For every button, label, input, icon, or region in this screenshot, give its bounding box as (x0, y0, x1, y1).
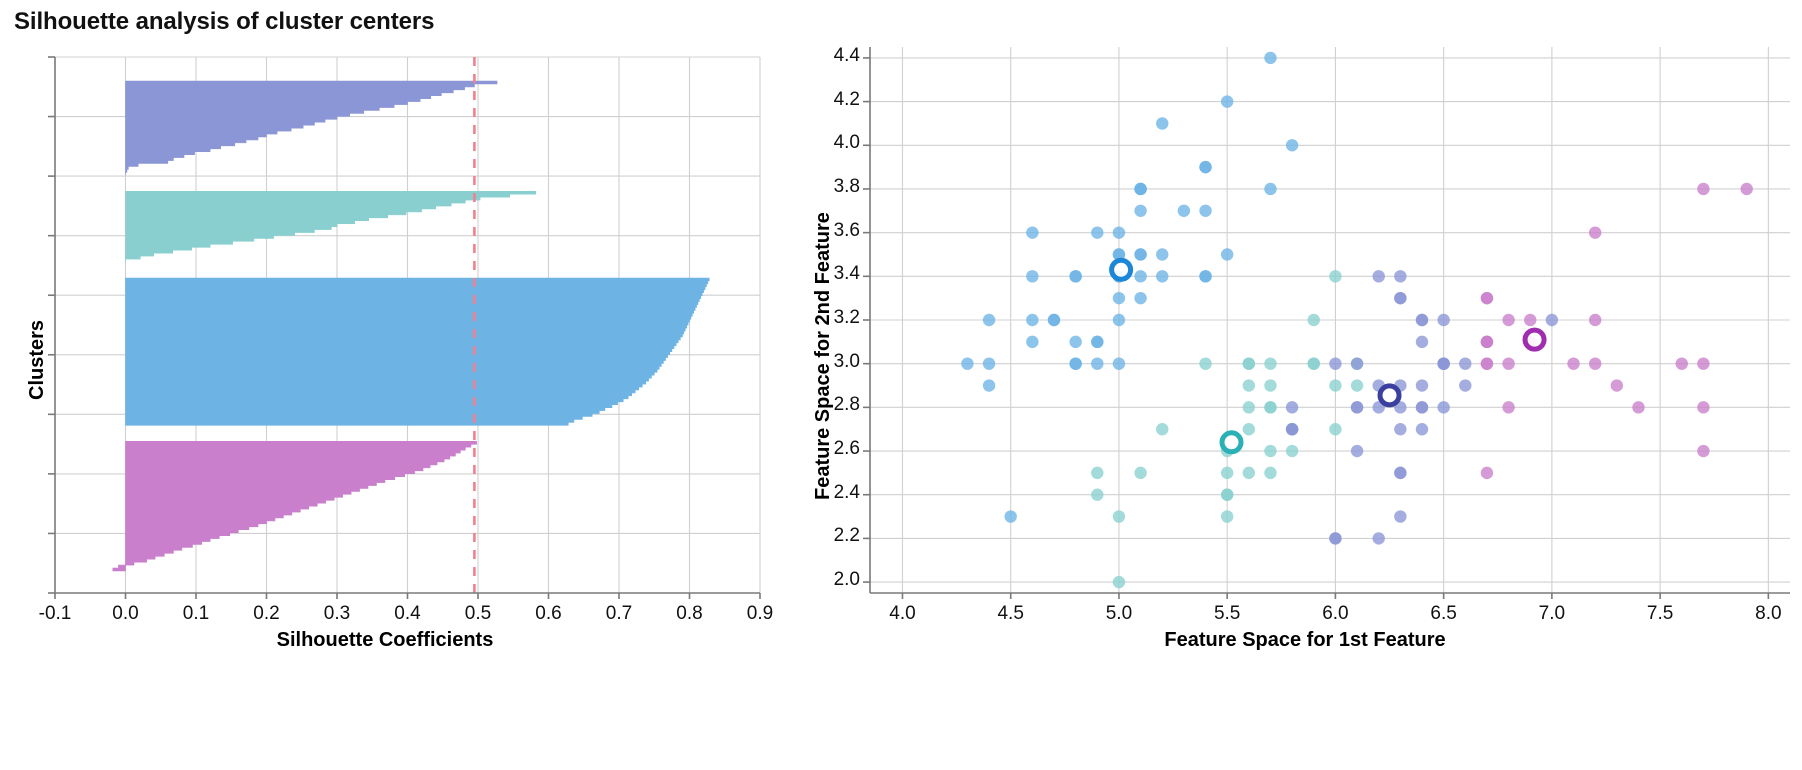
scatter-point (1026, 270, 1038, 282)
scatter-point (1351, 379, 1363, 391)
silhouette-panel: Silhouette analysis of cluster centers C… (0, 0, 790, 770)
scatter-point (1632, 401, 1644, 413)
scatter-point (1156, 270, 1168, 282)
scatter-point (983, 379, 995, 391)
scatter-ytick-1: 2.2 (812, 525, 860, 547)
scatter-point (1308, 357, 1320, 369)
scatter-point (1546, 314, 1558, 326)
silhouette-cluster-0 (126, 81, 498, 175)
silhouette-xtick-3: 0.2 (241, 603, 293, 625)
scatter-point (1026, 226, 1038, 238)
scatter-point (1286, 445, 1298, 457)
scatter-point (1026, 336, 1038, 348)
scatter-point (1416, 379, 1428, 391)
scatter-point (1243, 467, 1255, 479)
scatter-point (1329, 532, 1341, 544)
scatter-xtick-5: 6.5 (1418, 603, 1470, 625)
scatter-point (1697, 357, 1709, 369)
page-title: Silhouette analysis of cluster centers (14, 8, 434, 36)
scatter-point (1091, 336, 1103, 348)
scatter-ytick-10: 4.0 (812, 132, 860, 154)
scatter-point (1697, 183, 1709, 195)
scatter-point (1481, 336, 1493, 348)
scatter-point (1199, 205, 1211, 217)
scatter-point (1524, 314, 1536, 326)
scatter-point (1329, 423, 1341, 435)
silhouette-xtick-6: 0.5 (452, 603, 504, 625)
scatter-point (1502, 314, 1514, 326)
scatter-point (1437, 357, 1449, 369)
scatter-point (1243, 423, 1255, 435)
figure-root: Silhouette analysis of cluster centers C… (0, 0, 1802, 770)
scatter-point (1134, 467, 1146, 479)
scatter-point (1243, 357, 1255, 369)
scatter-point (1676, 357, 1688, 369)
scatter-point (1178, 205, 1190, 217)
scatter-point (1394, 270, 1406, 282)
scatter-point (1264, 379, 1276, 391)
scatter-point (1134, 183, 1146, 195)
scatter-point (1134, 248, 1146, 260)
scatter-point (1329, 357, 1341, 369)
scatter-point (1437, 314, 1449, 326)
scatter-point (1113, 576, 1125, 588)
scatter-point (1156, 423, 1168, 435)
scatter-point (1697, 445, 1709, 457)
scatter-point (1243, 379, 1255, 391)
cluster-center-3 (1525, 330, 1544, 349)
scatter-point (1589, 226, 1601, 238)
silhouette-xtick-7: 0.6 (523, 603, 575, 625)
scatter-point (1416, 336, 1428, 348)
scatter-point (1459, 357, 1471, 369)
scatter-point (1221, 95, 1233, 107)
scatter-point (1156, 117, 1168, 129)
silhouette-xtick-8: 0.7 (593, 603, 645, 625)
silhouette-xtick-1: 0.0 (100, 603, 152, 625)
scatter-point (1221, 248, 1233, 260)
silhouette-svg (0, 0, 790, 770)
scatter-point (1264, 52, 1276, 64)
scatter-point (1394, 467, 1406, 479)
scatter-point (1567, 357, 1579, 369)
cluster-center-2 (1112, 260, 1131, 279)
scatter-point (983, 357, 995, 369)
scatter-point (1286, 401, 1298, 413)
scatter-point (1134, 292, 1146, 304)
scatter-ytick-3: 2.6 (812, 438, 860, 460)
scatter-point (1069, 357, 1081, 369)
scatter-ytick-4: 2.8 (812, 394, 860, 416)
scatter-point (1069, 270, 1081, 282)
scatter-point (1264, 357, 1276, 369)
scatter-point (1091, 467, 1103, 479)
scatter-point (1134, 270, 1146, 282)
scatter-xtick-6: 7.0 (1526, 603, 1578, 625)
scatter-point (1005, 510, 1017, 522)
scatter-ytick-2: 2.4 (812, 482, 860, 504)
scatter-point (1502, 357, 1514, 369)
scatter-ytick-11: 4.2 (812, 89, 860, 111)
scatter-x-axis-label: Feature Space for 1st Feature (1040, 629, 1570, 652)
scatter-point (1459, 379, 1471, 391)
scatter-xtick-4: 6.0 (1309, 603, 1361, 625)
scatter-point (1502, 401, 1514, 413)
scatter-point (1741, 183, 1753, 195)
silhouette-cluster-3 (113, 441, 477, 571)
scatter-point (1199, 270, 1211, 282)
scatter-point (1091, 357, 1103, 369)
scatter-point (1351, 357, 1363, 369)
scatter-point (1481, 357, 1493, 369)
silhouette-xtick-4: 0.3 (311, 603, 363, 625)
scatter-point (1351, 445, 1363, 457)
scatter-point (1069, 336, 1081, 348)
silhouette-xtick-0: -0.1 (29, 603, 81, 625)
scatter-point (1264, 401, 1276, 413)
scatter-point (961, 357, 973, 369)
scatter-xtick-2: 5.0 (1093, 603, 1145, 625)
scatter-point (1481, 467, 1493, 479)
scatter-point (1394, 510, 1406, 522)
silhouette-xtick-5: 0.4 (382, 603, 434, 625)
scatter-point (1416, 401, 1428, 413)
scatter-point (1329, 379, 1341, 391)
scatter-point (1221, 467, 1233, 479)
scatter-point (1264, 467, 1276, 479)
scatter-point (1264, 445, 1276, 457)
scatter-ytick-5: 3.0 (812, 351, 860, 373)
scatter-xtick-1: 4.5 (985, 603, 1037, 625)
scatter-point (1113, 357, 1125, 369)
scatter-point (1113, 510, 1125, 522)
scatter-xtick-7: 7.5 (1634, 603, 1686, 625)
scatter-point (1199, 161, 1211, 173)
silhouette-cluster-2 (126, 278, 710, 425)
scatter-xtick-0: 4.0 (876, 603, 928, 625)
scatter-point (1026, 314, 1038, 326)
scatter-point (1589, 357, 1601, 369)
scatter-point (1221, 510, 1233, 522)
scatter-point (1113, 314, 1125, 326)
silhouette-x-axis-label: Silhouette Coefficients (160, 629, 610, 652)
scatter-point (1243, 401, 1255, 413)
scatter-ytick-9: 3.8 (812, 176, 860, 198)
scatter-ytick-12: 4.4 (812, 45, 860, 67)
scatter-svg (790, 0, 1802, 770)
scatter-point (1394, 423, 1406, 435)
scatter-point (1156, 248, 1168, 260)
scatter-point (1286, 139, 1298, 151)
silhouette-y-axis-label: Clusters (26, 320, 49, 400)
scatter-point (1113, 226, 1125, 238)
scatter-ytick-7: 3.4 (812, 263, 860, 285)
scatter-point (1221, 489, 1233, 501)
scatter-point (1394, 292, 1406, 304)
scatter-ytick-6: 3.2 (812, 307, 860, 329)
silhouette-xtick-10: 0.9 (734, 603, 786, 625)
scatter-point (1091, 489, 1103, 501)
scatter-point (1048, 314, 1060, 326)
cluster-center-1 (1222, 433, 1241, 452)
scatter-point (1611, 379, 1623, 391)
silhouette-xtick-9: 0.8 (664, 603, 716, 625)
scatter-point (1373, 532, 1385, 544)
scatter-point (983, 314, 995, 326)
scatter-point (1416, 314, 1428, 326)
scatter-xtick-8: 8.0 (1742, 603, 1794, 625)
scatter-point (1199, 357, 1211, 369)
cluster-center-0 (1380, 386, 1399, 405)
scatter-point (1329, 270, 1341, 282)
scatter-point (1373, 270, 1385, 282)
silhouette-xtick-2: 0.1 (170, 603, 222, 625)
scatter-point (1351, 401, 1363, 413)
scatter-point (1308, 314, 1320, 326)
scatter-point (1113, 292, 1125, 304)
scatter-point (1416, 423, 1428, 435)
scatter-point (1589, 314, 1601, 326)
scatter-ytick-0: 2.0 (812, 569, 860, 591)
scatter-point (1264, 183, 1276, 195)
scatter-point (1286, 423, 1298, 435)
scatter-panel: Feature Space for 2nd Feature Feature Sp… (790, 0, 1802, 770)
scatter-point (1134, 205, 1146, 217)
scatter-point (1091, 226, 1103, 238)
scatter-point (1697, 401, 1709, 413)
scatter-point (1481, 292, 1493, 304)
scatter-ytick-8: 3.6 (812, 220, 860, 242)
scatter-xtick-3: 5.5 (1201, 603, 1253, 625)
scatter-point (1437, 401, 1449, 413)
